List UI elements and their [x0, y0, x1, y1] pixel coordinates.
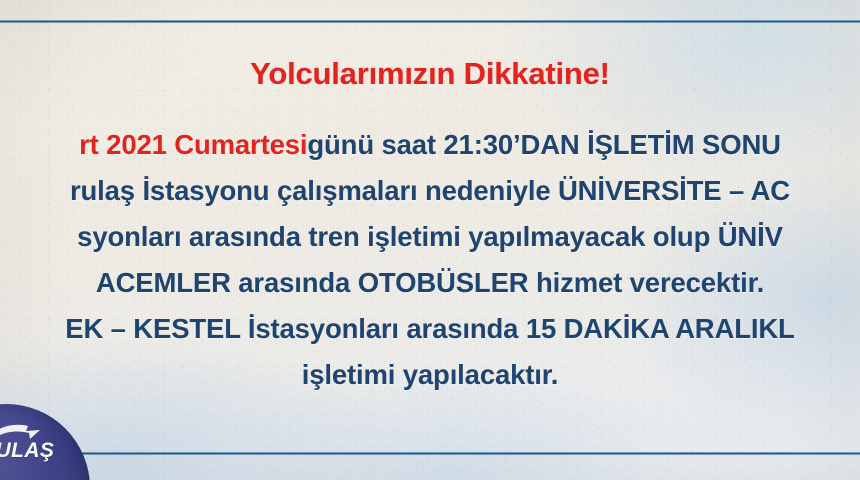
poster-content: Yolcularımızın Dikkatine! rt 2021 Cumart…: [0, 0, 860, 480]
body-line-6: işletimi yapılacaktır.: [0, 352, 860, 398]
logo-brand-text: RULAŞ: [0, 439, 54, 463]
page-title: Yolcularımızın Dikkatine!: [0, 58, 860, 89]
body-line-1-text-segment: günü saat 21:30’DAN İŞLETİM SONU: [307, 122, 780, 168]
body-line-5: EK – KESTEL İstasyonları arasında 15 DAK…: [0, 306, 860, 352]
body-line-1: rt 2021 Cumartesi günü saat 21:30’DAN İŞ…: [0, 122, 860, 168]
announcement-body: rt 2021 Cumartesi günü saat 21:30’DAN İŞ…: [0, 122, 860, 398]
announcement-poster: Yolcularımızın Dikkatine! rt 2021 Cumart…: [0, 0, 860, 480]
body-line-2-text-segment: rulaş İstasyonu çalışmaları nedeniyle ÜN…: [70, 168, 790, 214]
logo-inner: RULAŞ: [0, 422, 90, 480]
body-line-6-text-segment: işletimi yapılacaktır.: [302, 359, 559, 390]
body-line-5-text-segment: EK – KESTEL İstasyonları arasında 15 DAK…: [65, 306, 794, 352]
body-line-4-text-segment: ACEMLER arasında OTOBÜSLER hizmet verece…: [96, 260, 764, 306]
body-line-4: ACEMLER arasında OTOBÜSLER hizmet verece…: [0, 260, 860, 306]
body-line-3: syonları arasında tren işletimi yapılmay…: [0, 214, 860, 260]
body-line-2: rulaş İstasyonu çalışmaları nedeniyle ÜN…: [0, 168, 860, 214]
body-line-3-text-segment: syonları arasında tren işletimi yapılmay…: [77, 214, 783, 260]
body-line-1-date-segment: rt 2021 Cumartesi: [79, 122, 307, 168]
